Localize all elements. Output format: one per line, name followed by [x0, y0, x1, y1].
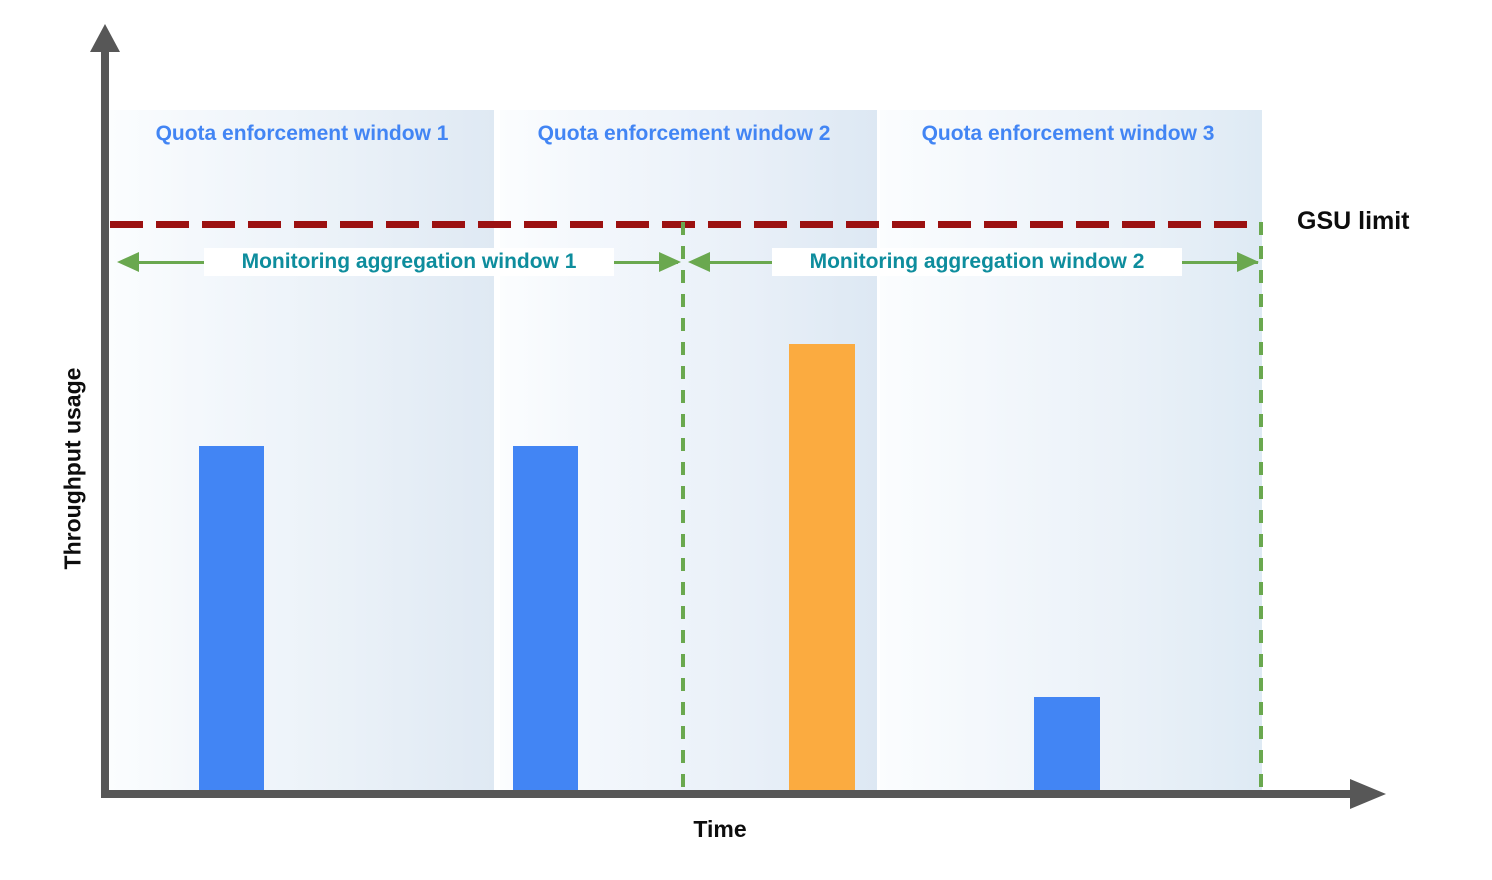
quota-window-label-2: Quota enforcement window 2: [524, 122, 844, 146]
aggregation-arrowhead-right-1-icon: [659, 252, 681, 272]
quota-window-label-3: Quota enforcement window 3: [908, 122, 1228, 146]
x-axis-title: Time: [620, 816, 820, 843]
aggregation-arrowhead-left-1-icon: [117, 252, 139, 272]
y-axis-title: Throughput usage: [60, 354, 87, 584]
gsu-limit-label: GSU limit: [1297, 207, 1410, 236]
usage-bar-3-burst: [789, 344, 855, 794]
quota-window-label-1: Quota enforcement window 1: [142, 122, 462, 146]
aggregation-arrowhead-left-2-icon: [688, 252, 710, 272]
aggregation-window-label-1: Monitoring aggregation window 1: [204, 248, 614, 276]
usage-bar-4: [1034, 697, 1100, 794]
x-axis-arrowhead-icon: [1350, 779, 1386, 809]
aggregation-boundary-1: [681, 222, 685, 792]
throughput-quota-diagram: GSU limit Throughput usage Time Quota en…: [0, 0, 1492, 880]
usage-bar-1: [199, 446, 264, 794]
gsu-limit-line: [110, 221, 1250, 228]
x-axis: [101, 790, 1364, 798]
quota-window-band-1: [110, 110, 494, 794]
y-axis-arrowhead-icon: [90, 24, 120, 52]
aggregation-boundary-2: [1259, 222, 1263, 792]
quota-window-band-3: [880, 110, 1262, 794]
y-axis: [101, 46, 109, 796]
aggregation-window-label-2: Monitoring aggregation window 2: [772, 248, 1182, 276]
usage-bar-2: [513, 446, 578, 794]
aggregation-arrowhead-right-2-icon: [1237, 252, 1259, 272]
